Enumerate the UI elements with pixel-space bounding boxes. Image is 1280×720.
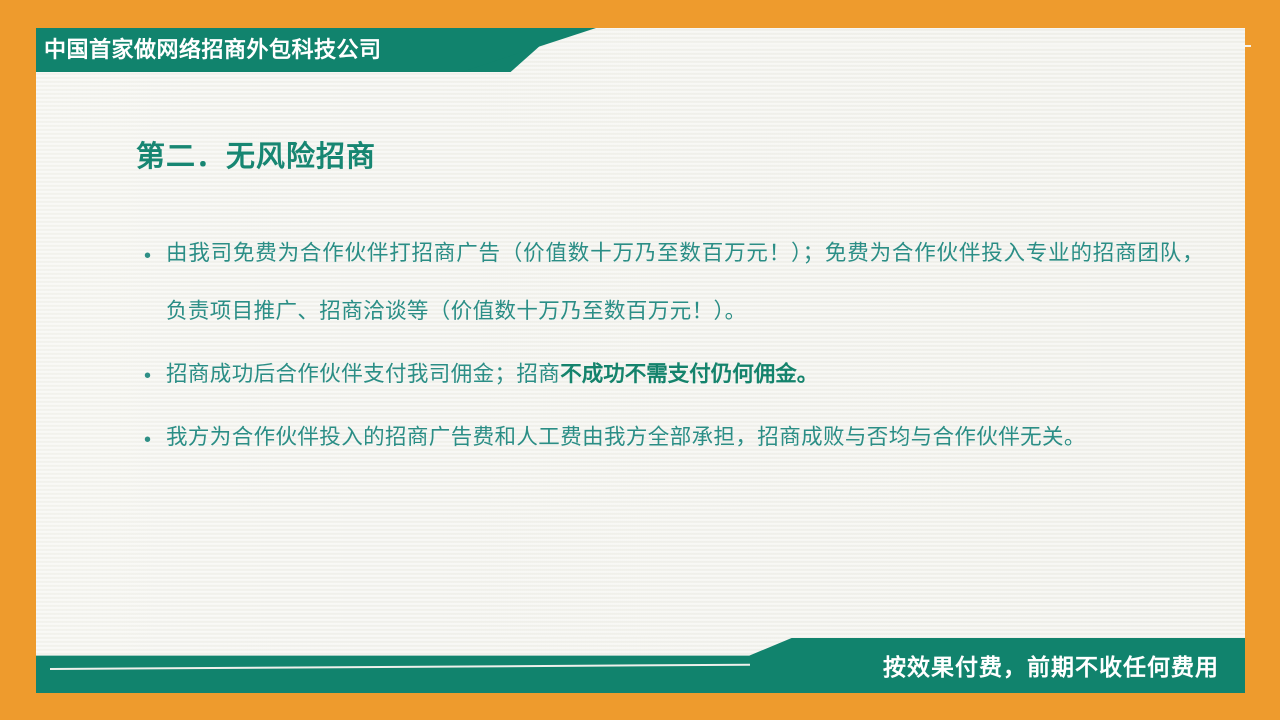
list-item-text: 招商成功后合作伙伴支付我司佣金；招商不成功不需支付仍何佣金。 [166,345,1204,404]
list-item-emphasis: 不成功不需支付仍何佣金。 [560,362,818,386]
bullet-marker-icon: • [144,409,166,469]
header-title: 中国首家做网络招商外包科技公司 [44,28,382,72]
slide-content: 第二．无风险招商 • 由我司免费为合作伙伴打招商广告（价值数十万乃至数百万元！）… [36,90,1245,610]
list-item-text: 我方为合作伙伴投入的招商广告费和人工费由我方全部承担，招商成败与否均与合作伙伴无… [166,409,1204,467]
list-item: • 由我司免费为合作伙伴打招商广告（价值数十万乃至数百万元！）；免费为合作伙伴投… [144,225,1204,341]
list-item-text-main: 由我司免费为合作伙伴打招商广告（价值数十万乃至数百万元！）；免费为合作伙伴投入专… [166,241,1204,324]
list-item: • 我方为合作伙伴投入的招商广告费和人工费由我方全部承担，招商成败与否均与合作伙… [144,409,1204,469]
bullet-marker-icon: • [144,225,166,285]
footer-banner: 按效果付费，前期不收任何费用 [36,638,1245,693]
list-item-text-main: 招商成功后合作伙伴支付我司佣金；招商 [166,362,560,387]
bullet-list: • 由我司免费为合作伙伴打招商广告（价值数十万乃至数百万元！）；免费为合作伙伴投… [144,225,1204,473]
list-item: • 招商成功后合作伙伴支付我司佣金；招商不成功不需支付仍何佣金。 [144,345,1204,405]
list-item-text-main: 我方为合作伙伴投入的招商广告费和人工费由我方全部承担，招商成败与否均与合作伙伴无… [166,425,1086,450]
footer-tagline: 按效果付费，前期不收任何费用 [883,648,1219,682]
header-banner: 中国首家做网络招商外包科技公司 [36,28,596,72]
slide-canvas: 中国首家做网络招商外包科技公司 第二．无风险招商 • 由我司免费为合作伙伴打招商… [0,0,1280,720]
section-title: 第二．无风险招商 [136,133,376,175]
bullet-marker-icon: • [144,345,166,405]
list-item-text: 由我司免费为合作伙伴打招商广告（价值数十万乃至数百万元！）；免费为合作伙伴投入专… [166,225,1204,341]
header-divider-line [545,45,1251,47]
